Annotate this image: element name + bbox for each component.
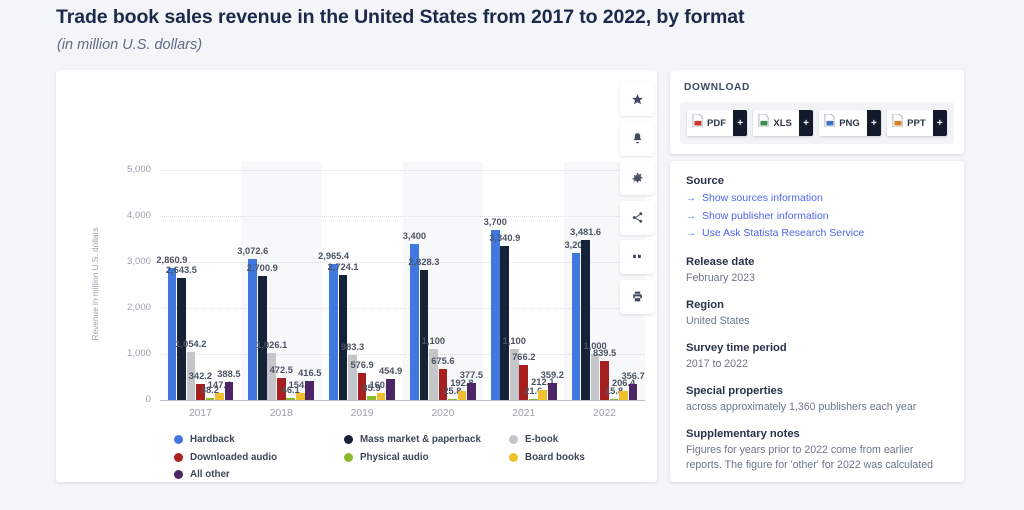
y-axis-tick-label: 0 <box>105 394 151 405</box>
x-axis-tick-label: 2019 <box>332 408 392 419</box>
detail-blocks: Release dateFebruary 2023RegionUnited St… <box>686 256 948 473</box>
file-ppt-icon <box>892 114 903 132</box>
legend-color-swatch <box>174 453 183 462</box>
bar-value-label: 1,054.2 <box>164 339 218 349</box>
download-options-toggle[interactable]: + <box>867 110 881 136</box>
chart-bar[interactable] <box>296 393 305 400</box>
bar-value-label: 147.4 <box>192 380 246 390</box>
bar-value-label: 3,340.9 <box>478 233 532 243</box>
bar-value-label: 3,072.6 <box>226 246 280 256</box>
download-button-label: XLS <box>773 118 791 129</box>
download-ppt-button[interactable]: PPT+ <box>887 110 947 136</box>
chart-bar[interactable] <box>500 246 509 400</box>
legend-item[interactable]: Board books <box>509 452 585 463</box>
chart-bar[interactable] <box>225 382 234 400</box>
chart-card: 01,0002,0003,0004,0005,000Revenue in mil… <box>56 70 657 482</box>
detail-heading: Supplementary notes <box>686 428 948 440</box>
bar-value-label: 839.5 <box>578 348 632 358</box>
bar-value-label: 983.3 <box>326 342 380 352</box>
page-subtitle: (in million U.S. dollars) <box>57 37 202 53</box>
x-axis-tick-label: 2021 <box>494 408 554 419</box>
chart-bar[interactable] <box>215 393 224 400</box>
detail-value: across approximately 1,360 publishers ea… <box>686 400 948 415</box>
chart-gridline <box>160 170 645 171</box>
chart-bar[interactable] <box>581 240 590 400</box>
source-links: →Show sources information→Show publisher… <box>686 190 948 243</box>
bar-value-label: 1,100 <box>406 336 460 346</box>
chart-bar[interactable] <box>258 276 267 400</box>
source-link-label: Use Ask Statista Research Service <box>702 225 864 242</box>
bar-value-label: 192.8 <box>435 378 489 388</box>
source-link[interactable]: →Show publisher information <box>686 208 948 226</box>
chart-bar[interactable] <box>610 399 619 401</box>
legend-color-swatch <box>344 435 353 444</box>
bar-value-label: 2,724.1 <box>316 262 370 272</box>
file-pdf-icon <box>692 114 703 132</box>
chart-bar[interactable] <box>538 390 547 400</box>
detail-block: Special propertiesacross approximately 1… <box>686 385 948 415</box>
y-axis-tick-label: 2,000 <box>105 302 151 313</box>
y-axis-tick-label: 5,000 <box>105 164 151 175</box>
x-axis-tick-label: 2018 <box>251 408 311 419</box>
x-axis-tick-label: 2020 <box>413 408 473 419</box>
download-png-button[interactable]: PNG+ <box>819 110 881 136</box>
detail-heading: Region <box>686 299 948 311</box>
y-axis-tick-label: 4,000 <box>105 210 151 221</box>
legend-label: All other <box>190 469 230 480</box>
legend-label: Mass market & paperback <box>360 434 481 445</box>
chart-bar[interactable] <box>206 398 215 400</box>
chart-bar[interactable] <box>410 244 419 400</box>
chart-bar[interactable] <box>339 275 348 400</box>
legend-color-swatch <box>174 470 183 479</box>
chart-bar[interactable] <box>377 393 386 400</box>
bar-value-label: 766.2 <box>497 352 551 362</box>
legend-item[interactable]: Hardback <box>174 434 235 445</box>
chart-bar[interactable] <box>448 399 457 401</box>
chart-bar[interactable] <box>529 399 538 401</box>
bar-chart-plot[interactable]: 01,0002,0003,0004,0005,000Revenue in mil… <box>56 70 657 430</box>
detail-heading: Special properties <box>686 385 948 397</box>
chart-bar[interactable] <box>305 381 314 400</box>
y-axis-tick-label: 1,000 <box>105 348 151 359</box>
file-xls-icon <box>758 114 769 132</box>
x-axis-tick-label: 2022 <box>575 408 635 419</box>
download-options-toggle[interactable]: + <box>933 110 947 136</box>
legend-label: Board books <box>525 452 585 463</box>
chart-bar[interactable] <box>329 264 338 400</box>
source-link-label: Show publisher information <box>702 208 829 225</box>
legend-color-swatch <box>509 435 518 444</box>
bar-value-label: 3,400 <box>387 231 441 241</box>
page-title: Trade book sales revenue in the United S… <box>56 6 744 29</box>
quote-icon[interactable] <box>620 240 654 274</box>
download-options-toggle[interactable]: + <box>733 110 747 136</box>
detail-value: Figures for years prior to 2022 come fro… <box>686 443 948 473</box>
chart-legend: HardbackMass market & paperbackE-bookDow… <box>174 434 644 487</box>
chart-bar[interactable] <box>367 396 376 400</box>
download-title: DOWNLOAD <box>684 82 750 93</box>
bar-value-label: 1,026.1 <box>245 340 299 350</box>
detail-block: RegionUnited States <box>686 299 948 329</box>
source-heading: Source <box>686 175 948 187</box>
statista-chart-page: Trade book sales revenue in the United S… <box>0 0 1024 510</box>
detail-block: Supplementary notesFigures for years pri… <box>686 428 948 473</box>
detail-value: February 2023 <box>686 271 948 286</box>
bar-value-label: 2,643.5 <box>154 265 208 275</box>
download-buttons-row: PDF+XLS+PNG+PPT+ <box>680 102 954 144</box>
chart-bar[interactable] <box>491 230 500 400</box>
detail-block: Survey time period2017 to 2022 <box>686 342 948 372</box>
chart-gridline <box>160 400 645 401</box>
detail-value: 2017 to 2022 <box>686 357 948 372</box>
bar-value-label: 2,828.3 <box>397 257 451 267</box>
arrow-right-icon: → <box>686 191 696 208</box>
legend-label: Downloaded audio <box>190 452 277 463</box>
legend-item[interactable]: Mass market & paperback <box>344 434 481 445</box>
bar-value-label: 1,100 <box>487 336 541 346</box>
chart-bar[interactable] <box>286 398 295 400</box>
chart-bar[interactable] <box>629 384 638 400</box>
source-link[interactable]: →Use Ask Statista Research Service <box>686 225 948 243</box>
chart-bar[interactable] <box>386 379 395 400</box>
legend-item[interactable]: E-book <box>509 434 558 445</box>
bar-value-label: 3,700 <box>468 217 522 227</box>
bar-value-label: 2,965.4 <box>307 251 361 261</box>
chart-bar[interactable] <box>619 391 628 400</box>
legend-item[interactable]: All other <box>174 469 230 480</box>
source-link-label: Show sources information <box>702 190 823 207</box>
download-button-label: PNG <box>839 118 860 129</box>
x-axis-tick-label: 2017 <box>170 408 230 419</box>
arrow-right-icon: → <box>686 226 696 243</box>
legend-label: E-book <box>525 434 558 445</box>
chart-bar[interactable] <box>467 383 476 400</box>
source-link[interactable]: →Show sources information <box>686 190 948 208</box>
share-icon[interactable] <box>620 201 654 235</box>
download-card: DOWNLOAD PDF+XLS+PNG+PPT+ <box>670 70 964 154</box>
download-options-toggle[interactable]: + <box>799 110 813 136</box>
bar-value-label: 3,200 <box>549 240 603 250</box>
bar-value-label: 2,700.9 <box>235 263 289 273</box>
legend-item[interactable]: Physical audio <box>344 452 429 463</box>
download-xls-button[interactable]: XLS+ <box>753 110 813 136</box>
print-icon[interactable] <box>620 280 654 314</box>
download-pdf-button[interactable]: PDF+ <box>687 110 747 136</box>
chart-bar[interactable] <box>458 391 467 400</box>
chart-bar[interactable] <box>548 383 557 400</box>
detail-heading: Survey time period <box>686 342 948 354</box>
bar-value-label: 356.7 <box>606 371 660 381</box>
chart-bar[interactable] <box>572 253 581 400</box>
star-icon[interactable] <box>620 82 654 116</box>
legend-color-swatch <box>344 453 353 462</box>
bell-icon[interactable] <box>620 122 654 156</box>
legend-label: Hardback <box>190 434 235 445</box>
source-block: Source →Show sources information→Show pu… <box>686 175 948 243</box>
gear-icon[interactable] <box>620 161 654 195</box>
bar-value-label: 2,860.9 <box>145 255 199 265</box>
y-axis-title: Revenue in million U.S. dollars <box>90 209 100 359</box>
bar-value-label: 675.6 <box>416 356 470 366</box>
file-png-icon <box>824 114 835 132</box>
bar-value-label: 154.3 <box>273 380 327 390</box>
chart-side-toolbar <box>620 82 654 319</box>
bar-value-label: 3,481.6 <box>559 227 613 237</box>
chart-bar[interactable] <box>248 259 257 400</box>
detail-value: United States <box>686 314 948 329</box>
arrow-right-icon: → <box>686 209 696 226</box>
legend-color-swatch <box>174 435 183 444</box>
bar-value-label: 160.3 <box>354 380 408 390</box>
chart-bar[interactable] <box>420 270 429 400</box>
legend-label: Physical audio <box>360 452 429 463</box>
download-button-label: PDF <box>707 118 726 129</box>
detail-heading: Release date <box>686 256 948 268</box>
chart-details-card: Source →Show sources information→Show pu… <box>670 161 964 482</box>
chart-gridline <box>160 216 645 217</box>
detail-block: Release dateFebruary 2023 <box>686 256 948 286</box>
download-button-label: PPT <box>907 118 925 129</box>
legend-color-swatch <box>509 453 518 462</box>
legend-item[interactable]: Downloaded audio <box>174 452 277 463</box>
